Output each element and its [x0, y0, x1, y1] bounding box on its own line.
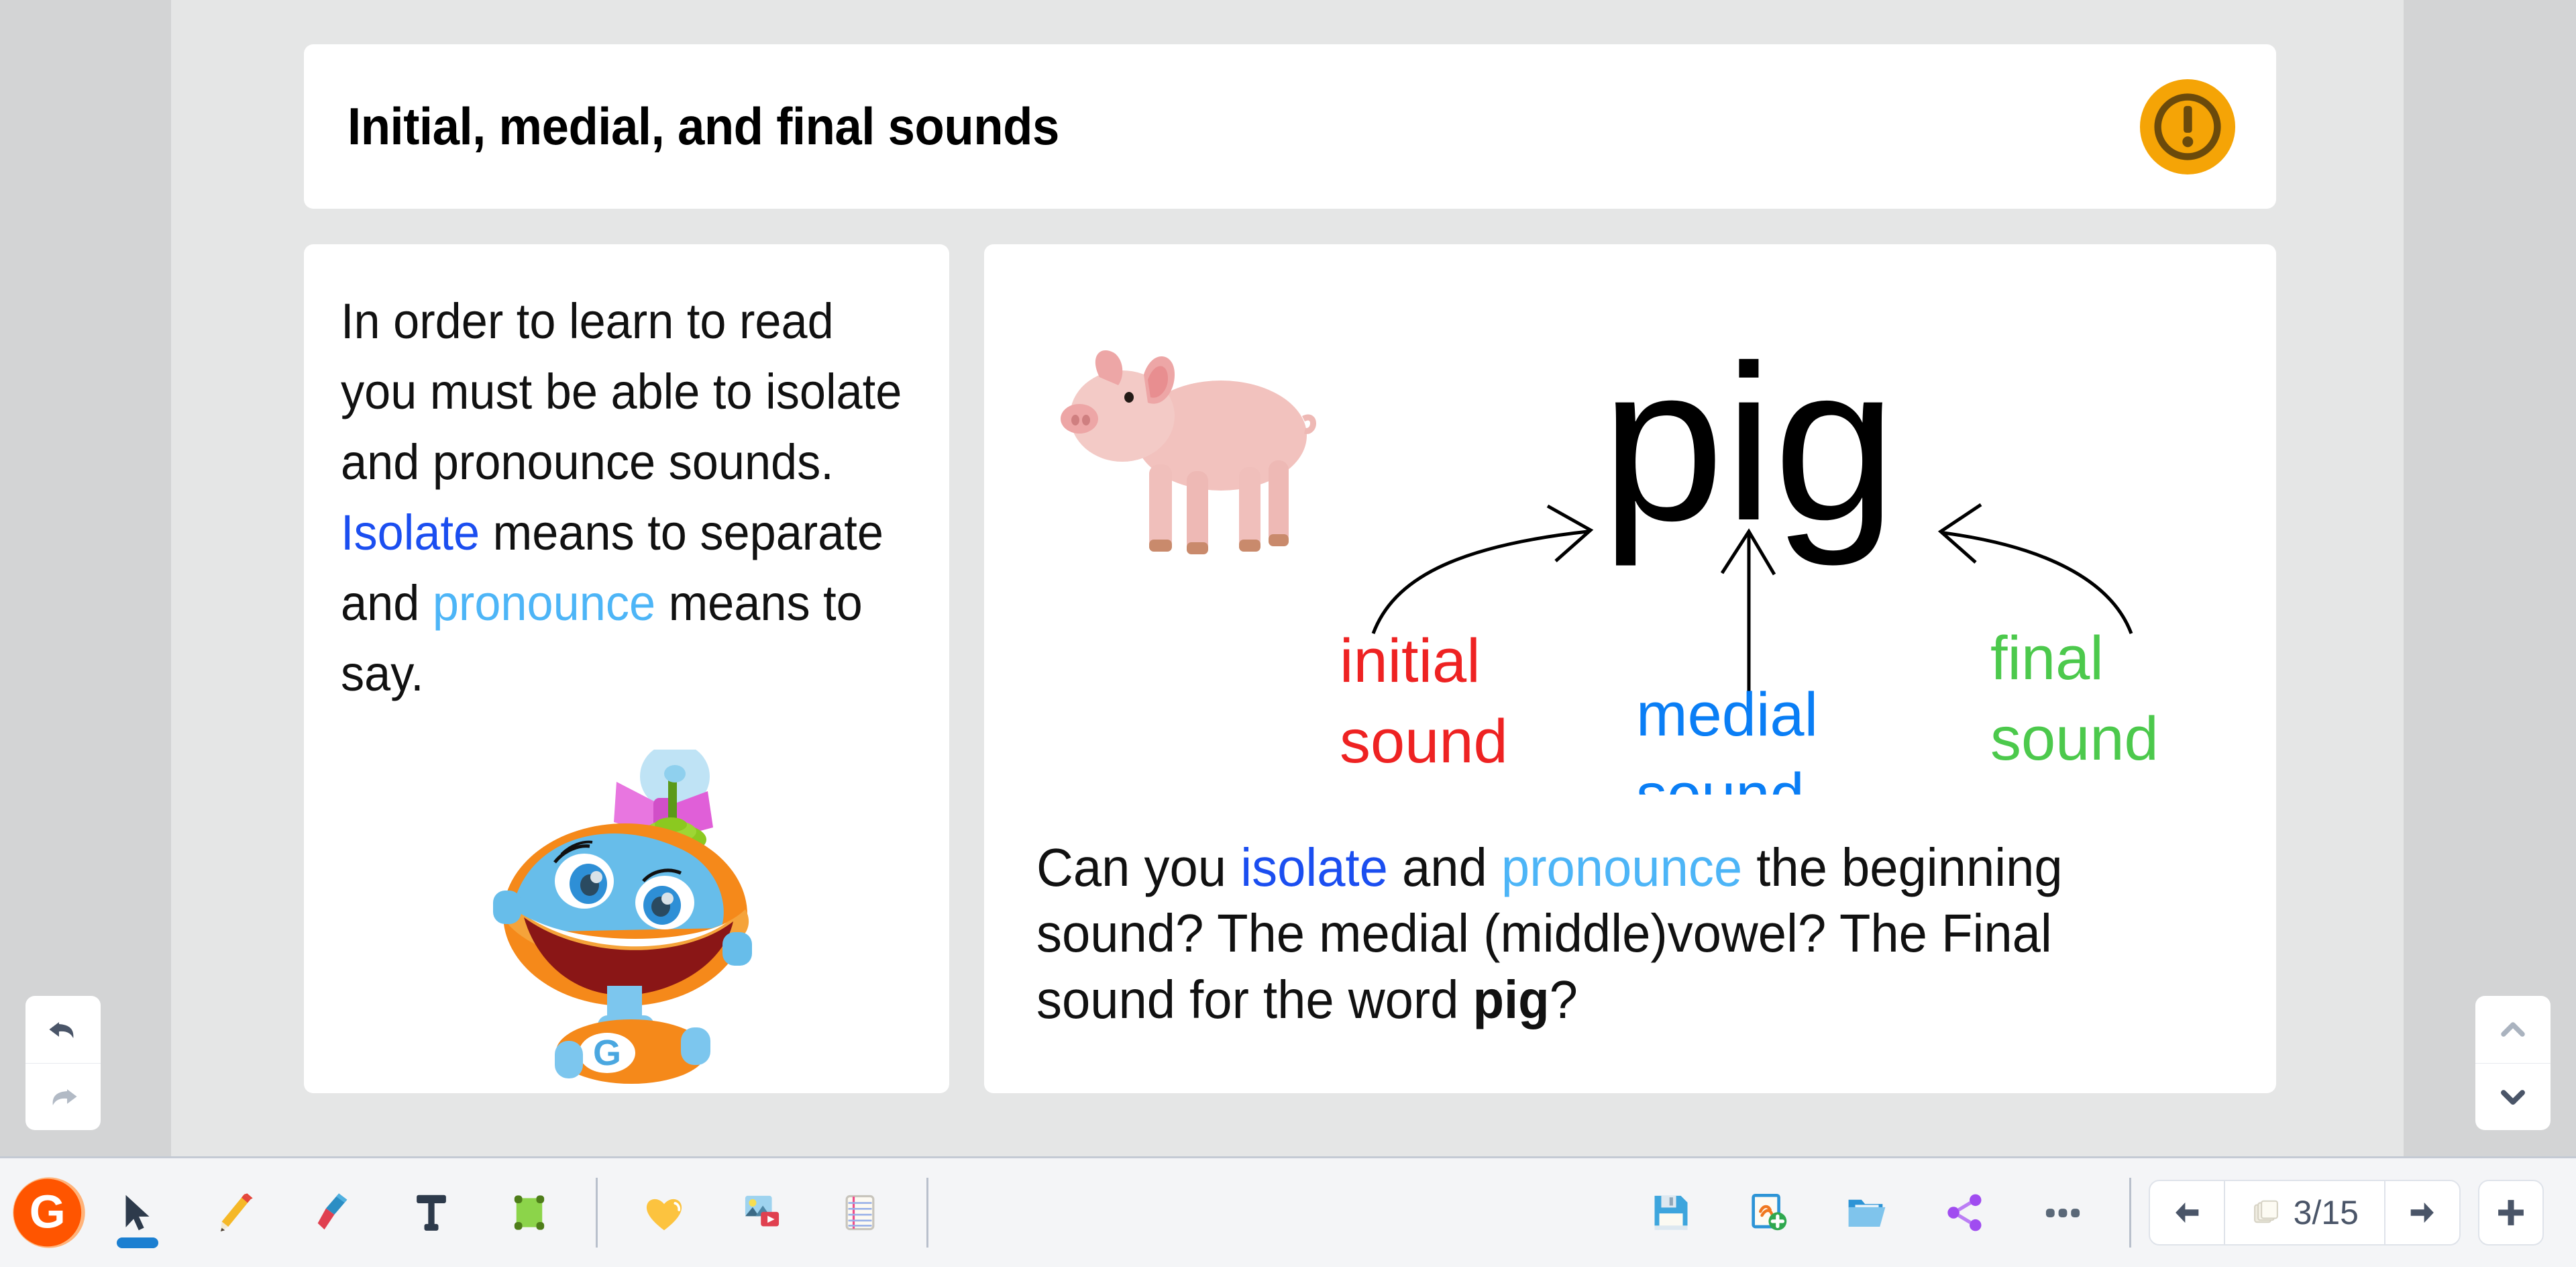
page-navigation: 3/15	[2149, 1180, 2461, 1246]
floppy-disk-icon	[1648, 1189, 1695, 1236]
shape-frame-icon	[506, 1189, 553, 1236]
prev-page-button[interactable]	[2150, 1181, 2224, 1244]
undo-button[interactable]	[25, 996, 101, 1063]
left-content-card[interactable]: In order to learn to read you must be ab…	[304, 244, 949, 1093]
redo-button[interactable]	[25, 1063, 101, 1131]
chevron-down-icon	[2494, 1078, 2532, 1115]
label-medial-line2: sound	[1636, 761, 1805, 795]
label-medial: medial sound	[1636, 680, 1818, 795]
label-initial-line2: sound	[1340, 707, 1508, 776]
paragraph-run-3: pronounce	[433, 575, 655, 631]
lined-paper-icon	[837, 1189, 883, 1236]
page-counter: 3/15	[2294, 1193, 2359, 1232]
arrow-left-icon	[2169, 1195, 2204, 1230]
right-content-card[interactable]: pig	[984, 244, 2276, 1093]
pencil-tool[interactable]	[196, 1173, 275, 1252]
cursor-arrow-icon	[114, 1189, 161, 1236]
page-title: Initial, medial, and final sounds	[347, 96, 1059, 157]
pages-stack-icon	[2251, 1197, 2282, 1228]
shape-tool[interactable]	[490, 1173, 569, 1252]
heart-icon	[641, 1189, 688, 1236]
share-nodes-icon	[1941, 1189, 1988, 1236]
eraser-tool[interactable]	[294, 1173, 373, 1252]
label-final: final sound	[1990, 624, 2159, 773]
asset-group	[615, 1173, 909, 1252]
mascot-g-letter: G	[593, 1033, 621, 1073]
arrow-right-icon	[2405, 1195, 2440, 1230]
new-page-button[interactable]	[1729, 1173, 1809, 1252]
scroll-up-button[interactable]	[2475, 996, 2551, 1063]
label-medial-line1: medial	[1636, 680, 1818, 749]
scroll-down-button[interactable]	[2475, 1063, 2551, 1131]
initial-arrow	[1373, 506, 1591, 633]
select-tool[interactable]	[98, 1173, 177, 1252]
question-paragraph: Can you isolate and pronounce the beginn…	[1036, 835, 2190, 1033]
question-run-6: ?	[1550, 970, 1578, 1029]
folder-icon	[1843, 1189, 1890, 1236]
slide-canvas[interactable]: Initial, medial, and final sounds In ord…	[171, 0, 2404, 1156]
toolbar-divider-2	[926, 1178, 928, 1248]
question-run-2: and	[1388, 838, 1501, 897]
page-plus-icon	[1746, 1189, 1792, 1236]
exclamation-circle-icon[interactable]	[2138, 77, 2237, 176]
slide-scroll-stack	[2475, 996, 2551, 1130]
eraser-icon	[310, 1189, 357, 1236]
image-video-icon	[739, 1189, 786, 1236]
label-final-line1: final	[1990, 624, 2104, 693]
tool-group	[89, 1173, 578, 1252]
more-button[interactable]	[2023, 1173, 2102, 1252]
pig-photo	[1043, 318, 1352, 573]
lesson-paragraph: In order to learn to read you must be ab…	[341, 286, 911, 709]
question-run-5: pig	[1473, 970, 1550, 1029]
bottom-toolbar: G	[0, 1156, 2576, 1267]
genially-robot-mascot: G	[482, 750, 771, 1085]
ellipsis-icon	[2039, 1189, 2086, 1236]
label-initial: initial sound	[1340, 627, 1508, 776]
text-tool[interactable]	[392, 1173, 471, 1252]
share-button[interactable]	[1925, 1173, 2004, 1252]
final-arrow	[1941, 505, 2131, 633]
undo-redo-stack	[25, 996, 101, 1130]
chevron-up-icon	[2494, 1011, 2532, 1048]
label-initial-line1: initial	[1340, 627, 1481, 695]
paragraph-run-1: Isolate	[341, 505, 480, 560]
favorites-button[interactable]	[625, 1173, 704, 1252]
next-page-button[interactable]	[2385, 1181, 2459, 1244]
undo-arrow-icon	[44, 1010, 83, 1049]
media-button[interactable]	[722, 1173, 802, 1252]
genially-logo-button[interactable]: G	[9, 1173, 89, 1252]
plus-icon	[2493, 1195, 2529, 1231]
toolbar-divider-3	[2129, 1178, 2131, 1248]
redo-arrow-icon	[44, 1077, 83, 1116]
pencil-icon	[212, 1189, 259, 1236]
page-counter-area[interactable]: 3/15	[2224, 1181, 2385, 1244]
save-button[interactable]	[1631, 1173, 1711, 1252]
toolbar-divider-1	[596, 1178, 598, 1248]
question-run-0: Can you	[1036, 838, 1240, 897]
logo-letter: G	[30, 1185, 66, 1237]
action-group	[1622, 1173, 2112, 1252]
open-button[interactable]	[1827, 1173, 1907, 1252]
background-button[interactable]	[820, 1173, 900, 1252]
question-run-3: pronounce	[1501, 838, 1742, 897]
slide-title-card[interactable]: Initial, medial, and final sounds	[304, 44, 2276, 209]
paragraph-run-0: In order to learn to read you must be ab…	[341, 293, 902, 490]
question-run-1: isolate	[1240, 838, 1388, 897]
genially-editor: Initial, medial, and final sounds In ord…	[0, 0, 2576, 1267]
add-page-button[interactable]	[2478, 1180, 2544, 1246]
text-t-icon	[408, 1189, 455, 1236]
label-final-line2: sound	[1990, 705, 2159, 773]
sounds-diagram: pig	[1320, 298, 2205, 795]
